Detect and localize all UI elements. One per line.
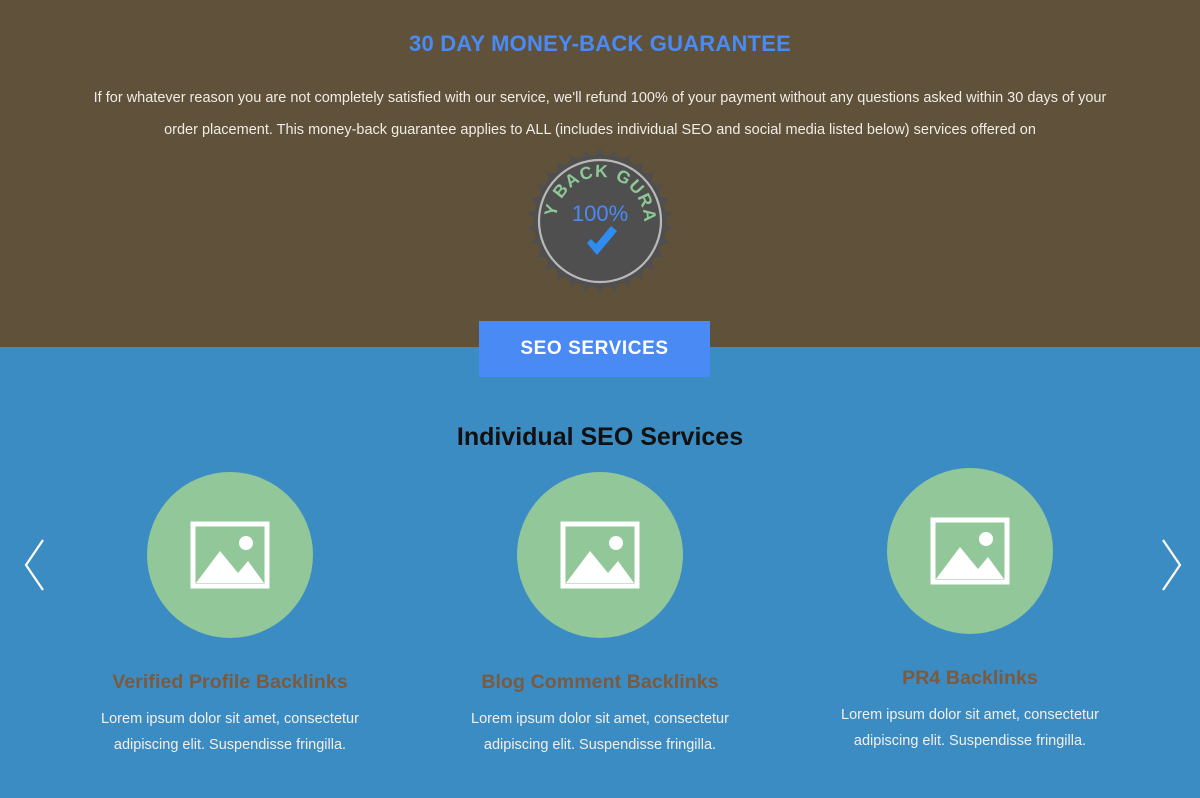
service-icon-circle <box>147 472 313 638</box>
seal-graphic: MONEY BACK GURANTEE 100% <box>527 148 673 294</box>
service-card[interactable]: Verified Profile Backlinks Lorem ipsum d… <box>70 472 390 792</box>
service-card-description: Lorem ipsum dolor sit amet, consectetur … <box>450 706 750 758</box>
services-carousel: Verified Profile Backlinks Lorem ipsum d… <box>70 472 1130 792</box>
services-section-title: Individual SEO Services <box>0 423 1200 452</box>
image-placeholder-icon <box>930 517 1010 585</box>
guarantee-heading: 30 DAY MONEY-BACK GUARANTEE <box>0 31 1200 57</box>
seal-percent-text: 100% <box>572 201 628 226</box>
carousel-next-button[interactable] <box>1148 528 1194 602</box>
image-placeholder-icon <box>560 521 640 589</box>
service-card-description: Lorem ipsum dolor sit amet, consectetur … <box>820 702 1120 754</box>
money-back-guarantee-seal: MONEY BACK GURANTEE 100% <box>527 148 673 294</box>
image-placeholder-icon <box>190 521 270 589</box>
service-card[interactable]: Blog Comment Backlinks Lorem ipsum dolor… <box>440 472 760 792</box>
seo-services-section: Individual SEO Services Verified Profile… <box>0 347 1200 798</box>
guarantee-paragraph: If for whatever reason you are not compl… <box>88 82 1112 146</box>
service-icon-circle <box>887 468 1053 634</box>
seo-services-tab-button[interactable]: SEO SERVICES <box>479 321 710 377</box>
page-root: 30 DAY MONEY-BACK GUARANTEE If for whate… <box>0 0 1200 798</box>
chevron-right-icon <box>1157 536 1185 594</box>
chevron-left-icon <box>21 536 49 594</box>
service-card[interactable]: PR4 Backlinks Lorem ipsum dolor sit amet… <box>810 468 1130 792</box>
service-card-title: Verified Profile Backlinks <box>112 671 348 694</box>
service-card-description: Lorem ipsum dolor sit amet, consectetur … <box>80 706 380 758</box>
service-icon-circle <box>517 472 683 638</box>
service-card-title: PR4 Backlinks <box>902 667 1038 690</box>
service-card-title: Blog Comment Backlinks <box>481 671 718 694</box>
carousel-prev-button[interactable] <box>12 528 58 602</box>
